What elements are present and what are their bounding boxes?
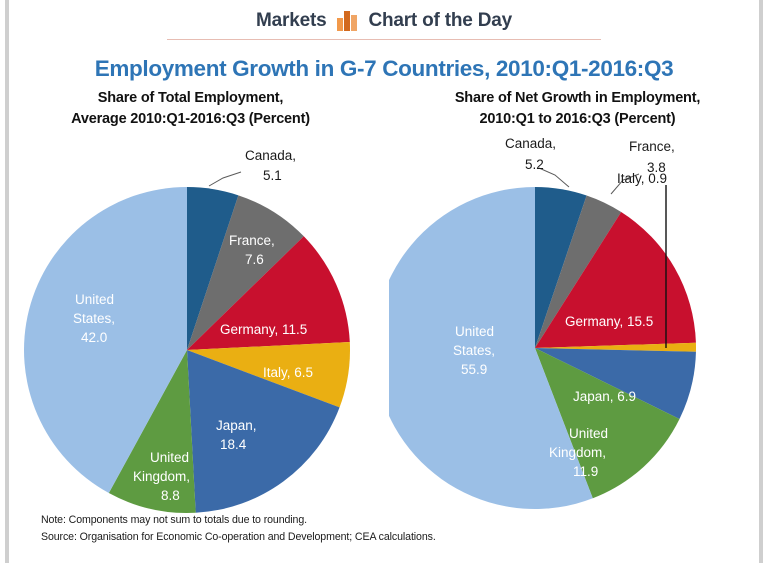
pie-label-germany-left: Germany, 11.5 <box>220 322 307 337</box>
pie-label-canada-right-line1: Canada, <box>505 138 556 151</box>
pie-chart-share-of-net-growth: Canada, 5.2 France, 3.8 Italy, 0.9 Germa… <box>389 138 768 518</box>
banner: Markets Chart of the Day <box>5 6 763 36</box>
pie-label-canada-right-line2: 5.2 <box>525 157 544 172</box>
subtitle-left-line1: Share of Total Employment, <box>5 88 376 109</box>
pie-label-france-left-line2: 7.6 <box>245 252 264 267</box>
subtitle-left-line2: Average 2010:Q1-2016:Q3 (Percent) <box>5 109 376 130</box>
pie-label-france-right-line1: France, <box>629 139 675 154</box>
bar-chart-icon <box>337 11 357 31</box>
pie-label-canada-left-line2: 5.1 <box>263 168 282 183</box>
subtitle-right-line2: 2010:Q1 to 2016:Q3 (Percent) <box>392 109 763 130</box>
pie-label-us-left-line3: 42.0 <box>81 330 107 345</box>
footnotes: Note: Components may not sum to totals d… <box>41 512 436 546</box>
subtitle-right: Share of Net Growth in Employment, 2010:… <box>386 88 763 130</box>
subtitle-left: Share of Total Employment, Average 2010:… <box>5 88 386 130</box>
pie-label-canada-left-line1: Canada, <box>245 148 296 163</box>
pie-label-uk-right-line2: Kingdom, <box>549 445 606 460</box>
pie-label-us-right-line1: United <box>455 324 494 339</box>
banner-chart-of-the-day-label: Chart of the Day <box>368 10 512 32</box>
pie-label-france-left-line1: France, <box>229 233 275 248</box>
pie-label-germany-right: Germany, 15.5 <box>565 314 653 329</box>
pie-label-italy-left: Italy, 6.5 <box>263 365 313 380</box>
pie-label-us-right-line2: States, <box>453 343 495 358</box>
source-line: Source: Organisation for Economic Co-ope… <box>41 529 436 546</box>
banner-divider <box>167 39 601 40</box>
pie-label-us-left-line2: States, <box>73 311 115 326</box>
pie-label-japan-left-line1: Japan, <box>216 418 257 433</box>
pie-label-uk-right-line1: United <box>569 426 608 441</box>
pie-label-uk-left-line3: 8.8 <box>161 488 180 503</box>
pie-label-us-right-line3: 55.9 <box>461 362 487 377</box>
pie-label-italy-right: Italy, 0.9 <box>617 171 667 186</box>
charts-area: Canada, 5.1 France, 7.6 Germany, 11.5 It… <box>5 138 763 518</box>
pie-label-us-left-line1: United <box>75 292 114 307</box>
pie-label-uk-right-line3: 11.9 <box>573 464 598 479</box>
page-title: Employment Growth in G-7 Countries, 2010… <box>5 56 763 82</box>
leader-line-canada-left <box>209 172 241 186</box>
pie-chart-share-of-total-employment: Canada, 5.1 France, 7.6 Germany, 11.5 It… <box>5 138 389 518</box>
chart-page: Markets Chart of the Day Employment Grow… <box>0 0 768 563</box>
pie-label-uk-left-line2: Kingdom, <box>133 469 190 484</box>
pie-label-japan-left-line2: 18.4 <box>220 437 247 452</box>
subtitle-row: Share of Total Employment, Average 2010:… <box>5 88 763 130</box>
subtitle-right-line1: Share of Net Growth in Employment, <box>392 88 763 109</box>
pie-label-japan-right: Japan, 6.9 <box>573 389 636 404</box>
pie-slices-right <box>389 187 696 509</box>
banner-markets-label: Markets <box>256 10 326 32</box>
pie-label-uk-left-line1: United <box>150 450 189 465</box>
note-line: Note: Components may not sum to totals d… <box>41 512 436 529</box>
